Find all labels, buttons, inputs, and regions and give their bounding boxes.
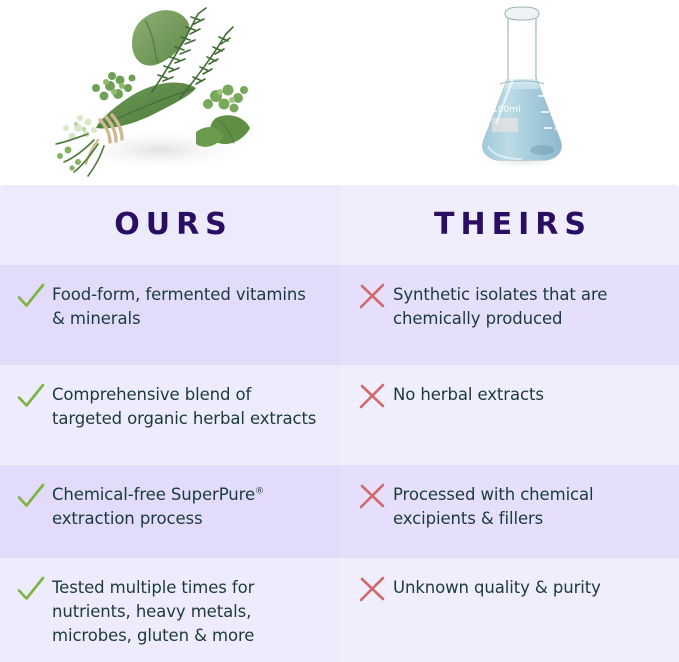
check-icon [14, 480, 48, 514]
row-2-ours-text: Comprehensive blend of targeted organic … [52, 383, 322, 431]
row-4-ours-cell: Tested multiple times for nutrients, hea… [0, 558, 341, 662]
header-label-theirs: THEIRS [428, 210, 592, 240]
check-icon [14, 380, 48, 414]
row-1-ours-cell: Food-form, fermented vitamins & minerals [0, 265, 341, 365]
comparison-table: OURS THEIRS Food-form, fermented vitamin… [0, 185, 679, 662]
flask-graduation-80: 80 [548, 93, 557, 101]
flask-graduation-60: 60 [551, 109, 560, 117]
header-cell-theirs: THEIRS [341, 185, 679, 265]
row-3-ours-text: Chemical-free SuperPure® extraction proc… [52, 483, 322, 531]
header-cell-ours: OURS [0, 185, 341, 265]
check-icon [14, 573, 48, 607]
fresh-herbs-bundle-photo [48, 0, 278, 185]
row-1-ours-text: Food-form, fermented vitamins & minerals [52, 283, 322, 331]
registered-trademark-symbol: ® [255, 487, 264, 497]
cross-icon [355, 380, 389, 414]
row-4-ours-text: Tested multiple times for nutrients, hea… [52, 576, 322, 648]
row-3-ours-cell: Chemical-free SuperPure® extraction proc… [0, 465, 341, 558]
laboratory-flask-photo: 80 60 40 100ml [462, 0, 582, 185]
row-2-ours-cell: Comprehensive blend of targeted organic … [0, 365, 341, 465]
check-icon [14, 280, 48, 314]
table-row: Food-form, fermented vitamins & minerals… [0, 265, 679, 365]
table-row: Tested multiple times for nutrients, hea… [0, 558, 679, 662]
row-3-ours-text-prefix: Chemical-free SuperPure [52, 485, 255, 504]
hero-image-band: 80 60 40 100ml [0, 0, 679, 185]
flask-graduation-40: 40 [554, 125, 563, 133]
row-2-theirs-cell: No herbal extracts [341, 365, 679, 465]
table-row: Chemical-free SuperPure® extraction proc… [0, 465, 679, 558]
row-4-theirs-cell: Unknown quality & purity [341, 558, 679, 662]
table-header-row: OURS THEIRS [0, 185, 679, 265]
flask-volume-label: 100ml [492, 105, 520, 115]
row-3-theirs-text: Processed with chemical excipients & fil… [393, 483, 653, 531]
row-2-theirs-text: No herbal extracts [393, 383, 544, 407]
header-label-ours: OURS [108, 210, 233, 240]
row-1-theirs-cell: Synthetic isolates that are chemically p… [341, 265, 679, 365]
row-3-theirs-cell: Processed with chemical excipients & fil… [341, 465, 679, 558]
cross-icon [355, 280, 389, 314]
cross-icon [355, 573, 389, 607]
row-4-theirs-text: Unknown quality & purity [393, 576, 601, 600]
table-row: Comprehensive blend of targeted organic … [0, 365, 679, 465]
row-3-ours-text-suffix: extraction process [52, 509, 203, 528]
row-1-theirs-text: Synthetic isolates that are chemically p… [393, 283, 653, 331]
cross-icon [355, 480, 389, 514]
